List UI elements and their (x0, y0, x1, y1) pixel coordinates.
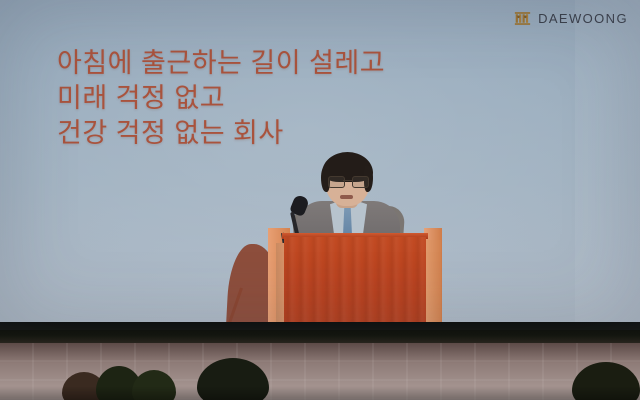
presentation-photo: 아침에 출근하는 길이 설레고 미래 걱정 없고 건강 걱정 없는 회사 DAE… (0, 0, 640, 400)
photo-vignette (0, 0, 640, 330)
foreground-shade (0, 386, 640, 400)
